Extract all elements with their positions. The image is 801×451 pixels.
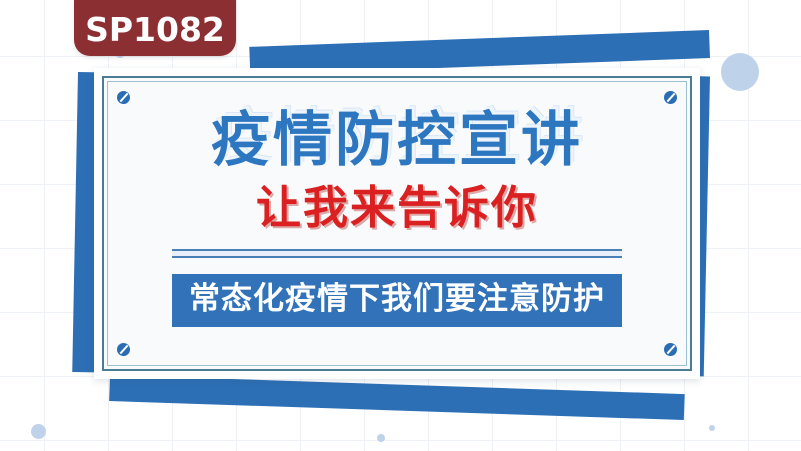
poster-canvas: 疫情防控宣讲 让我来告诉你 常态化疫情下我们要注意防护 SP1082 [0, 0, 801, 451]
poster-card: 疫情防控宣讲 让我来告诉你 常态化疫情下我们要注意防护 [94, 68, 700, 379]
banner-text: 常态化疫情下我们要注意防护 [172, 274, 622, 327]
decorative-circle-small [31, 424, 46, 439]
divider [172, 249, 622, 258]
main-title: 疫情防控宣讲 [211, 110, 583, 169]
sp-code-badge: SP1082 [74, 0, 236, 56]
card-border-inner: 疫情防控宣讲 让我来告诉你 常态化疫情下我们要注意防护 [107, 81, 687, 366]
card-border-outer: 疫情防控宣讲 让我来告诉你 常态化疫情下我们要注意防护 [102, 76, 692, 371]
sub-title: 让我来告诉你 [256, 185, 538, 230]
decorative-circle-tiny [709, 425, 715, 431]
decorative-circle-tiny [377, 434, 385, 442]
card-content: 疫情防控宣讲 让我来告诉你 常态化疫情下我们要注意防护 [108, 82, 686, 365]
sp-code-label: SP1082 [85, 6, 225, 49]
decorative-circle-large [721, 53, 759, 91]
